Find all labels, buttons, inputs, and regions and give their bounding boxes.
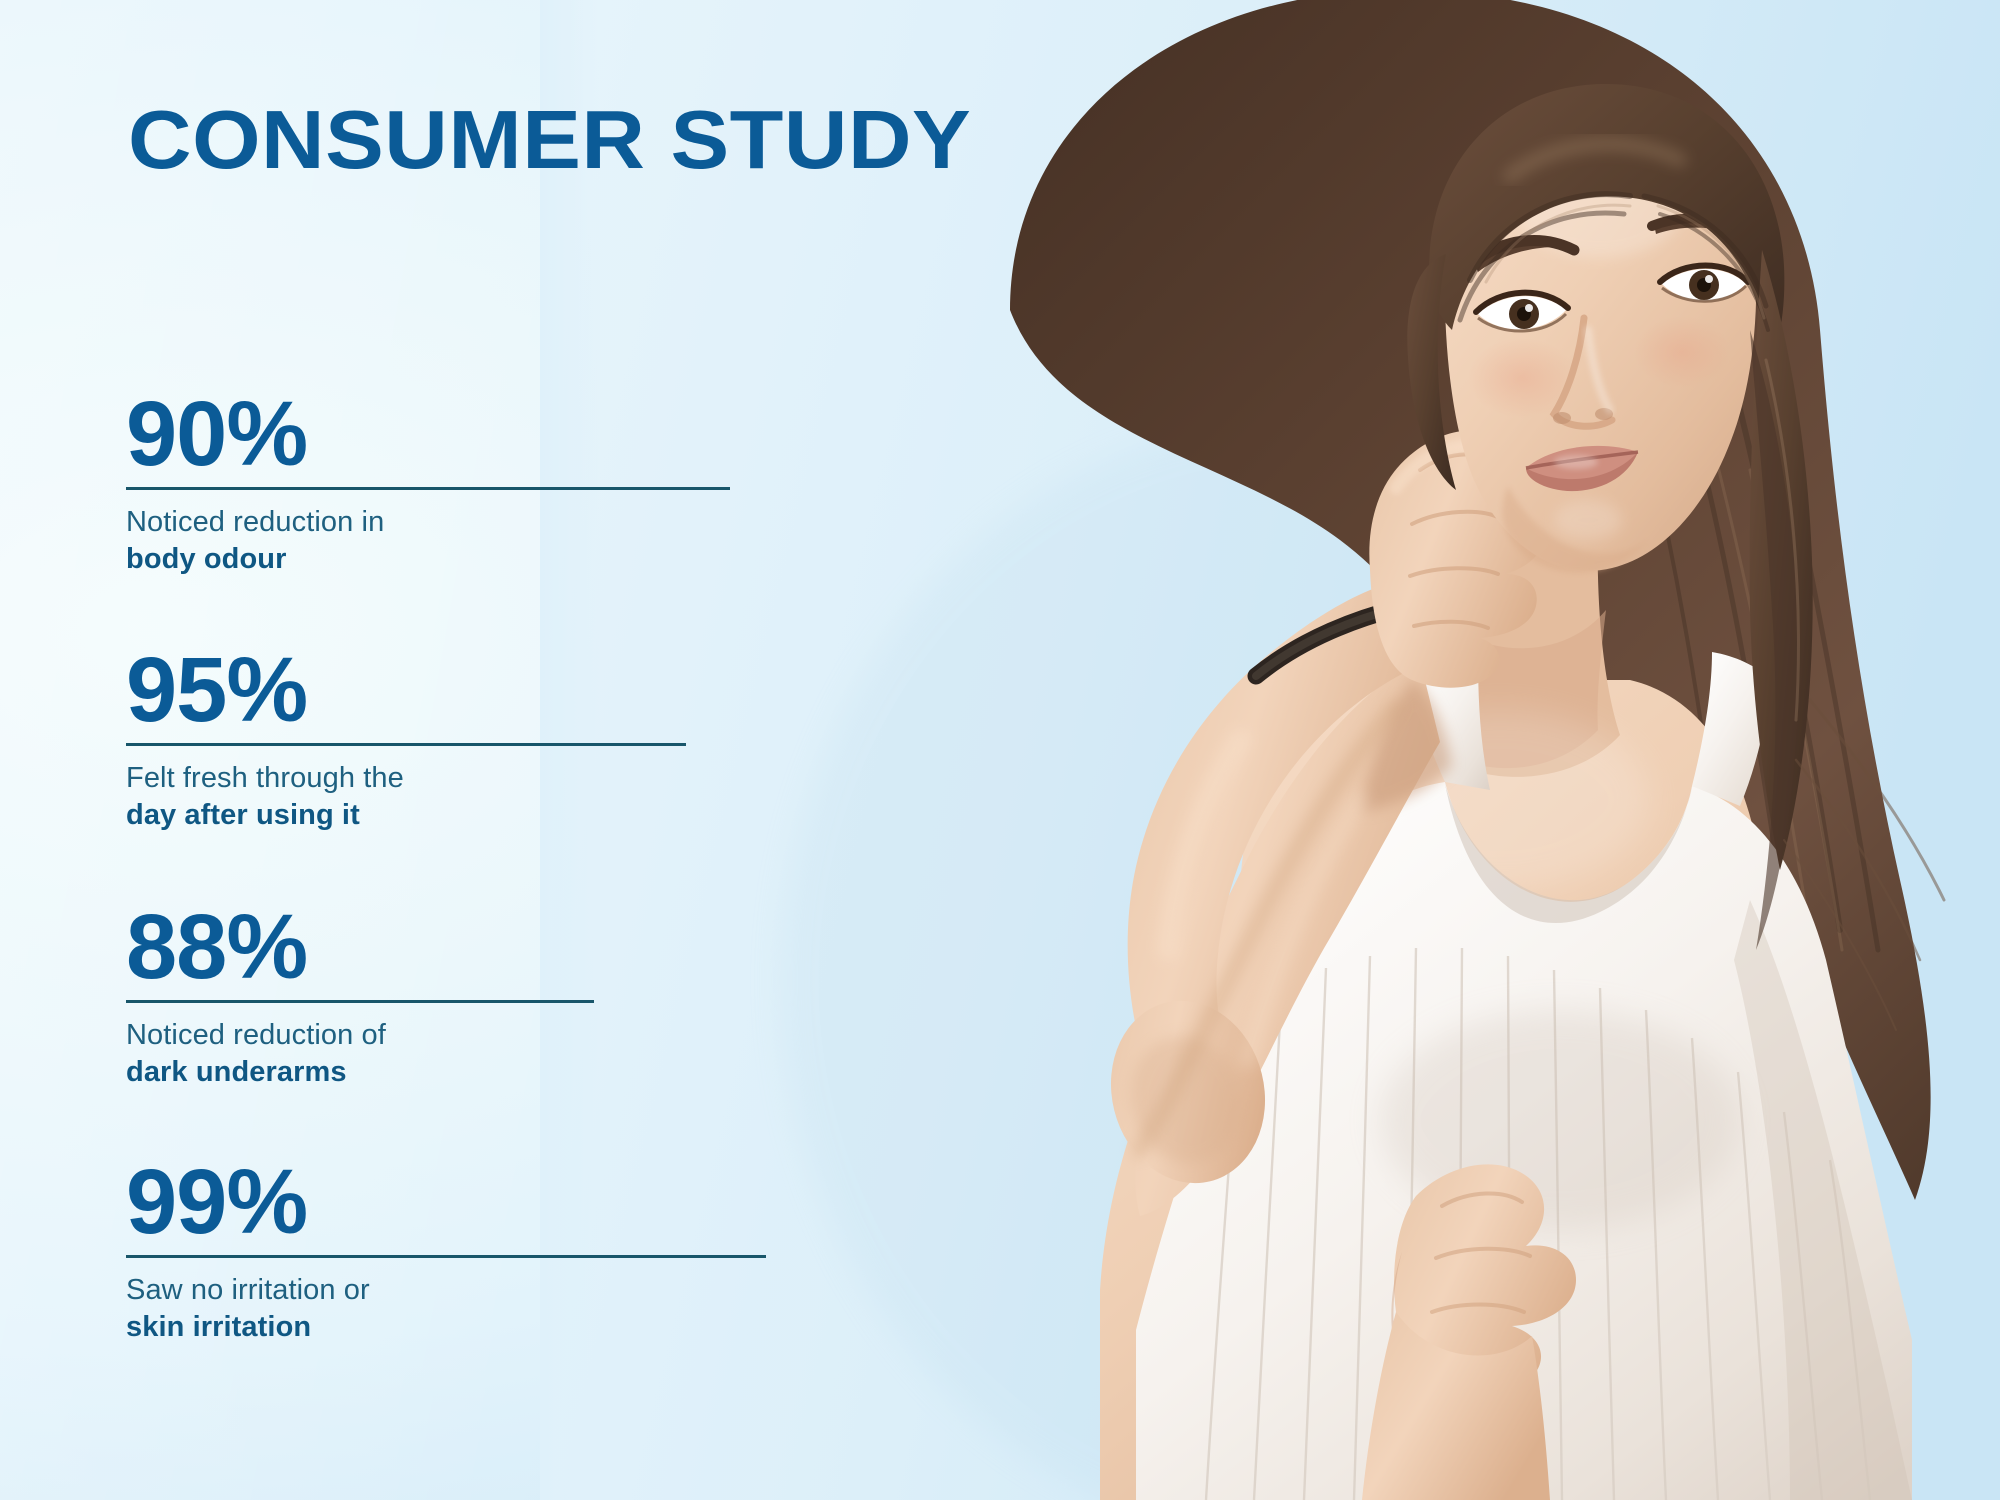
stat-caption-line1: Noticed reduction of: [126, 1017, 594, 1054]
stat-caption-line2: body odour: [126, 541, 730, 578]
stat-caption: Felt fresh through the day after using i…: [126, 760, 686, 834]
stat-block: 90% Noticed reduction in body odour: [126, 392, 730, 578]
stat-caption: Noticed reduction of dark underarms: [126, 1017, 594, 1091]
stat-divider: [126, 1000, 594, 1003]
stats-panel: CONSUMER STUDY 90% Noticed reduction in …: [0, 0, 900, 1500]
stat-block: 88% Noticed reduction of dark underarms: [126, 905, 594, 1091]
stat-caption-line1: Noticed reduction in: [126, 504, 730, 541]
stat-value: 90%: [126, 392, 730, 477]
page-title: CONSUMER STUDY: [128, 98, 971, 181]
stat-value: 99%: [126, 1160, 766, 1245]
stat-divider: [126, 743, 686, 746]
stat-block: 99% Saw no irritation or skin irritation: [126, 1160, 766, 1346]
stat-caption: Saw no irritation or skin irritation: [126, 1272, 766, 1346]
stat-caption-line1: Felt fresh through the: [126, 760, 686, 797]
stat-value: 95%: [126, 648, 686, 733]
stat-caption-line2: day after using it: [126, 797, 686, 834]
stat-value: 88%: [126, 905, 594, 990]
stat-block: 95% Felt fresh through the day after usi…: [126, 648, 686, 834]
stat-divider: [126, 487, 730, 490]
stat-caption-line2: dark underarms: [126, 1054, 594, 1091]
stat-caption-line2: skin irritation: [126, 1309, 766, 1346]
stat-caption-line1: Saw no irritation or: [126, 1272, 766, 1309]
stat-caption: Noticed reduction in body odour: [126, 504, 730, 578]
infographic-canvas: CONSUMER STUDY 90% Noticed reduction in …: [0, 0, 2000, 1500]
stat-divider: [126, 1255, 766, 1258]
